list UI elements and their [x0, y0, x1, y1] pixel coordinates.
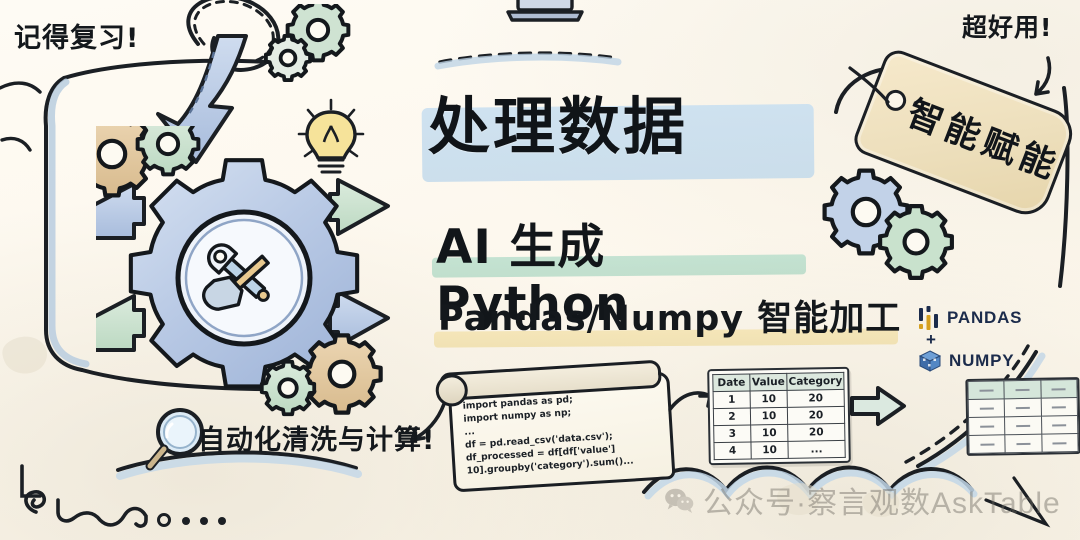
table-row [968, 380, 1077, 400]
table-row [968, 398, 1077, 418]
numpy-icon [918, 349, 942, 373]
table-cell: 20 [787, 389, 844, 407]
note-top-left: 记得复习! [14, 16, 139, 55]
gear-icon [131, 160, 357, 386]
gear-icon [96, 126, 381, 414]
lightbulb-icon [296, 96, 366, 186]
output-data-table [965, 377, 1080, 456]
table-cell [1005, 416, 1042, 435]
wechat-icon [664, 487, 694, 513]
pandas-icon [918, 306, 940, 330]
table-cell [1005, 398, 1042, 417]
gear-machine-illustration [96, 126, 436, 426]
table-cell: 1 [713, 391, 750, 409]
table-row [969, 416, 1078, 436]
table-cell [969, 435, 1006, 454]
table-cell: 2 [713, 408, 750, 426]
code-block: import pandas as pd; import numpy as np;… [462, 388, 660, 478]
tag-badge: 智能赋能 [852, 46, 1074, 214]
table-cell: 20 [788, 423, 845, 441]
hammer-icon [199, 246, 276, 320]
table-cell [1041, 434, 1078, 453]
table-cell: 20 [787, 406, 844, 424]
wrench-icon [203, 240, 275, 309]
table-cell: ... [788, 440, 845, 458]
arrow-right-icon [330, 180, 388, 346]
laptop-icon [500, 0, 590, 28]
table-cell: 10 [750, 390, 787, 408]
subtitle-2-group: Pandas/Numpy 智能加工 [438, 290, 908, 341]
library-logos: PANDAS + NUMPY [918, 306, 1038, 373]
table-cell [969, 417, 1006, 436]
table-cell: 3 [714, 425, 751, 443]
page-title: 处理数据 [428, 96, 818, 158]
table-cell [968, 399, 1005, 418]
table-row: 4 10 ... [714, 440, 845, 459]
note-top-right: 超好用! [962, 8, 1052, 44]
subtitle-2: Pandas/Numpy 智能加工 [438, 290, 908, 341]
table-cell [1005, 434, 1042, 453]
page-title-group: 处理数据 [428, 96, 818, 158]
pandas-logo-row: PANDAS [918, 306, 1038, 330]
table-header-cell: Date [713, 374, 750, 392]
pandas-label: PANDAS [947, 308, 1022, 328]
numpy-label: NUMPY [949, 351, 1014, 371]
table-row [969, 434, 1078, 454]
arrow-right-icon [848, 384, 910, 430]
watermark-text: 公众号·察言观数AskTable [703, 478, 1061, 522]
arrow-left-icon [96, 184, 144, 350]
table-cell [1041, 380, 1078, 399]
input-data-table: Date Value Category 1 10 20 2 10 20 3 10… [707, 367, 851, 465]
code-scroll: import pandas as pd; import numpy as np;… [447, 362, 669, 487]
table-cell [1041, 416, 1078, 435]
table-cell: 10 [751, 441, 788, 459]
table-header-cell: Value [750, 373, 787, 391]
table-header-cell: Category [787, 372, 844, 390]
plus-label: + [918, 331, 944, 348]
note-bottom-left: 自动化清洗与计算! [198, 418, 435, 457]
gear-icon [262, 4, 382, 84]
table-cell: 4 [714, 442, 751, 460]
table-cell: 10 [750, 407, 787, 425]
table-cell [1041, 398, 1078, 417]
table-cell: 10 [751, 424, 788, 442]
numpy-logo-row: NUMPY [918, 349, 1038, 373]
watermark: 公众号·察言观数AskTable [664, 478, 1061, 522]
table-cell [968, 381, 1005, 400]
poster-canvas: 记得复习! 超好用! 处理数据 AI 生成 Python Pandas/Nump… [0, 0, 1080, 540]
table-cell [1004, 380, 1041, 399]
